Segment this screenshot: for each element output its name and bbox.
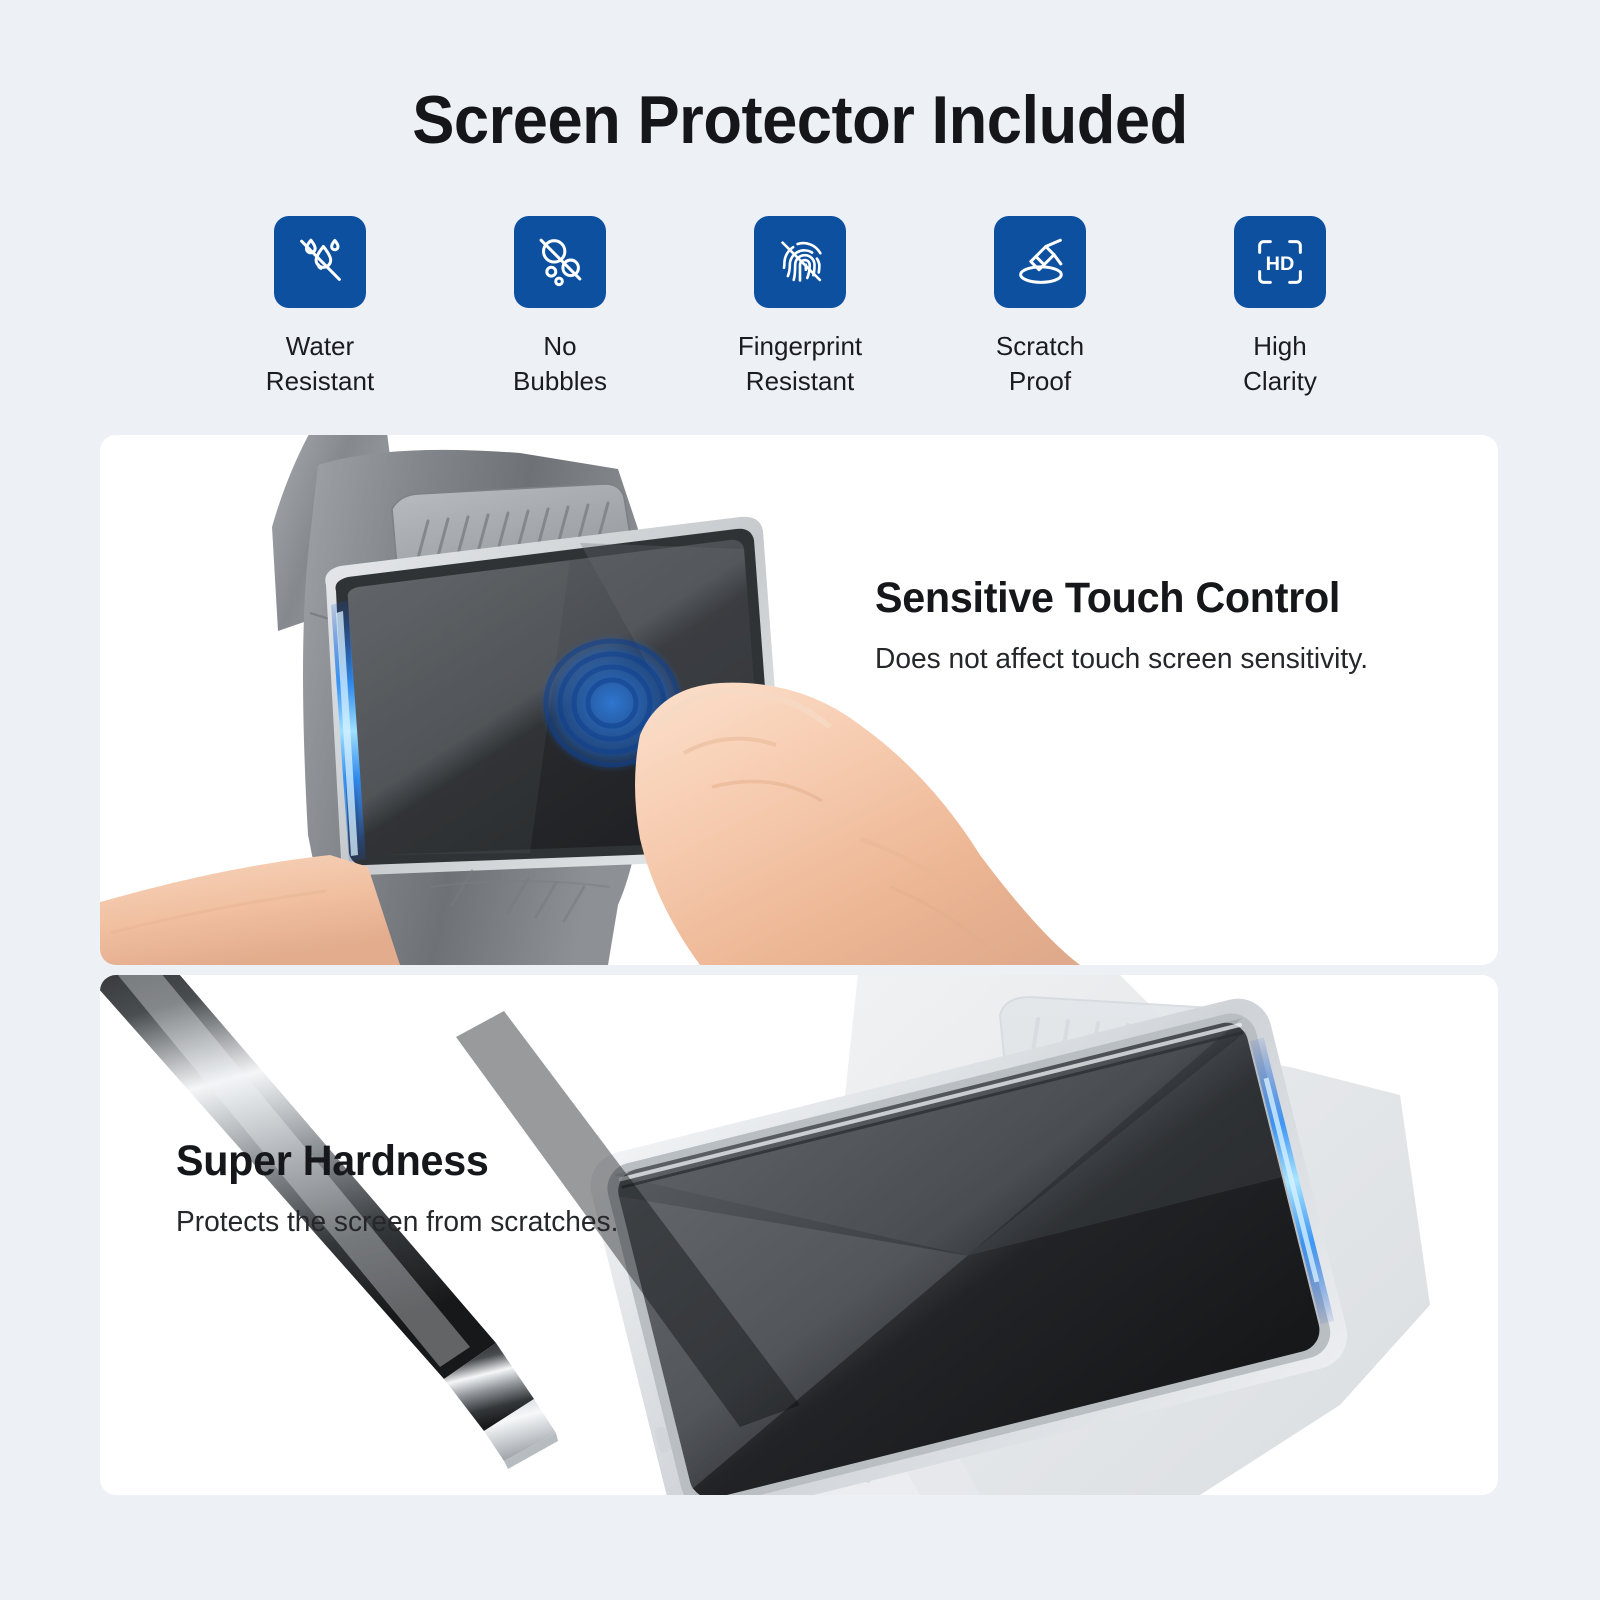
bubbles-slash-icon xyxy=(514,216,606,308)
feature-label: No Bubbles xyxy=(513,329,607,398)
feature-item-high-clarity: HD High Clarity xyxy=(1198,216,1362,398)
fingerprint-slash-icon xyxy=(754,216,846,308)
panel-subtext: Protects the screen from scratches. xyxy=(176,1204,618,1240)
page-title: Screen Protector Included xyxy=(56,0,1544,154)
feature-item-scratch-proof: Scratch Proof xyxy=(958,216,1122,398)
svg-text:HD: HD xyxy=(1266,253,1295,275)
hd-frame-icon: HD xyxy=(1234,216,1326,308)
feature-label: Fingerprint Resistant xyxy=(738,329,862,398)
panel-text-block: Sensitive Touch Control Does not affect … xyxy=(875,575,1383,678)
feature-label: Water Resistant xyxy=(266,329,374,398)
panel-super-hardness: Super Hardness Protects the screen from … xyxy=(100,975,1498,1495)
feature-item-water-resistant: Water Resistant xyxy=(238,216,402,398)
water-drop-slash-icon xyxy=(274,216,366,308)
panel-heading: Sensitive Touch Control xyxy=(875,575,1363,622)
photo-hand-holding-gimbal-camera xyxy=(100,435,1498,965)
blade-scratch-icon xyxy=(994,216,1086,308)
feature-label: High Clarity xyxy=(1243,329,1317,398)
feature-label: Scratch Proof xyxy=(996,329,1084,398)
panel-heading: Super Hardness xyxy=(176,1138,614,1185)
panel-text-block: Super Hardness Protects the screen from … xyxy=(176,1138,632,1241)
feature-item-fingerprint-resistant: Fingerprint Resistant xyxy=(718,216,882,398)
panel-subtext: Does not affect touch screen sensitivity… xyxy=(875,641,1368,677)
feature-strip: Water Resistant No Bubbles xyxy=(0,216,1600,398)
panel-sensitive-touch-control: Sensitive Touch Control Does not affect … xyxy=(100,435,1498,965)
feature-item-no-bubbles: No Bubbles xyxy=(478,216,642,398)
